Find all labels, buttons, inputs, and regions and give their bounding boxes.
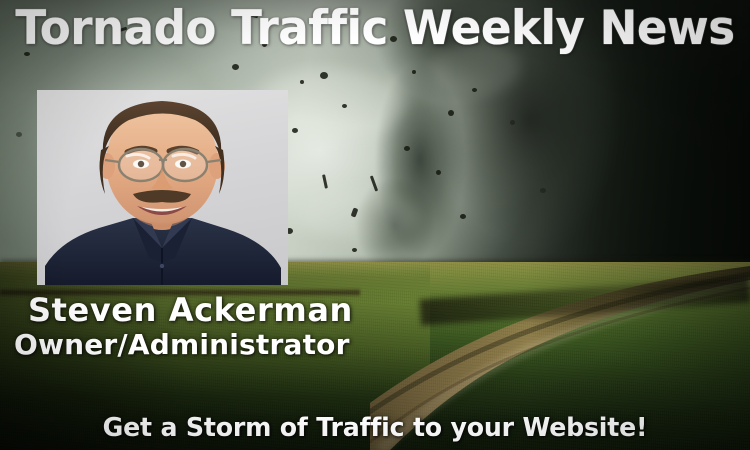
debris-speck-icon [448,110,454,116]
page-title: Tornado Traffic Weekly News [15,0,735,58]
debris-speck-icon [300,80,304,84]
debris-speck-icon [292,128,298,133]
debris-speck-icon [472,88,477,92]
debris-speck-icon [320,72,328,79]
debris-speck-icon [232,64,239,70]
debris-speck-icon [510,120,515,125]
cloud-wisp-icon [300,190,420,240]
debris-speck-icon [540,188,546,193]
person-name: Steven Ackerman [28,292,353,328]
person-role: Owner/Administrator [14,328,350,362]
debris-speck-icon [16,132,22,137]
debris-speck-icon [404,146,410,151]
debris-speck-icon [460,214,466,219]
tagline-text: Get a Storm of Traffic to your Website! [11,412,739,444]
debris-speck-icon [436,170,441,175]
portrait-photo [37,90,288,285]
tornado-traffic-banner: Tornado Traffic Weekly News Steven Acker… [0,0,750,450]
portrait-illustration [37,90,288,285]
debris-speck-icon [342,104,347,108]
debris-speck-icon [412,70,416,74]
debris-speck-icon [352,248,357,252]
